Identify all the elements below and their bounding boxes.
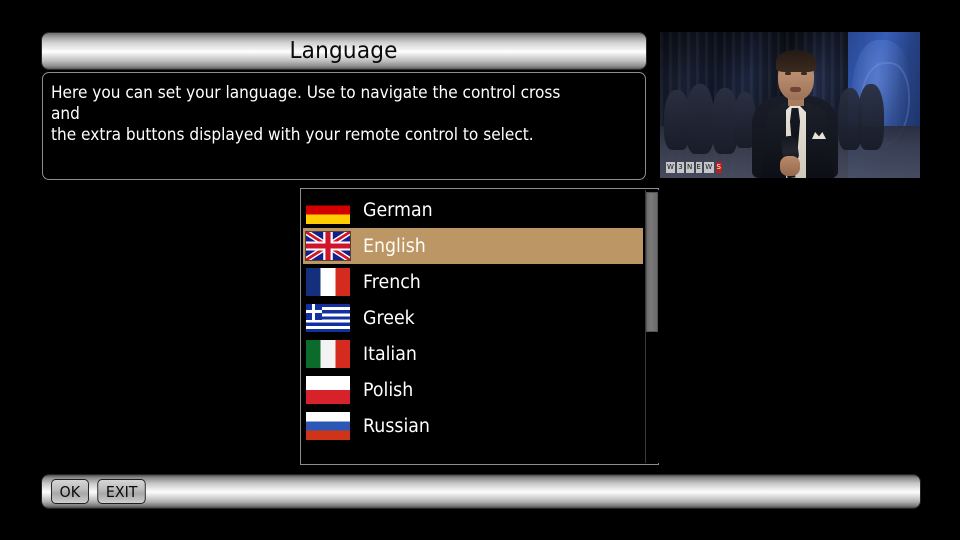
ok-button[interactable]: OK [51, 479, 89, 504]
language-label: English [363, 236, 426, 257]
language-list-item-german[interactable]: German [303, 192, 643, 228]
footer-button-bar: OK EXIT [42, 475, 920, 508]
language-list-item-french[interactable]: French [303, 264, 643, 300]
language-label: Italian [363, 344, 417, 365]
page-title-bar: Language [42, 33, 646, 69]
video-subject-eye [785, 72, 791, 75]
video-subject-hair [776, 50, 816, 72]
language-list-item-italian[interactable]: Italian [303, 336, 643, 372]
logo-part: W [704, 162, 713, 173]
gr-flag-icon [306, 304, 350, 332]
language-label: French [363, 272, 421, 293]
union-jack-svg [306, 232, 350, 260]
logo-part: N [686, 162, 694, 173]
language-label: German [363, 200, 433, 221]
logo-part: E [696, 162, 703, 173]
logo-part: W [666, 162, 675, 173]
logo-part: 3 [677, 162, 684, 173]
language-list-item-polish[interactable]: Polish [303, 372, 643, 408]
logo-part: S [716, 162, 723, 173]
it-flag-icon [306, 340, 350, 368]
language-list: German English French [303, 192, 643, 444]
video-crowd-figure [686, 84, 714, 154]
help-text: Here you can set your language. Use to n… [51, 82, 594, 145]
greek-flag-cross-horizontal [306, 310, 322, 313]
video-subject-hand [780, 156, 800, 176]
news-channel-logo: W 3 N E W S [666, 161, 744, 173]
help-text-box: Here you can set your language. Use to n… [42, 72, 646, 180]
pl-flag-icon [306, 376, 350, 404]
language-list-item-russian[interactable]: Russian [303, 408, 643, 444]
de-flag-icon [306, 196, 350, 224]
tv-settings-screen: Language Here you can set your language.… [0, 0, 960, 540]
exit-button[interactable]: EXIT [97, 479, 146, 504]
language-list-panel[interactable]: German English French [300, 188, 659, 465]
gb-flag-icon [306, 232, 350, 260]
page-title: Language [290, 38, 398, 64]
video-subject-eye [801, 72, 807, 75]
language-list-item-english[interactable]: English [303, 228, 643, 264]
language-label: Greek [363, 308, 415, 329]
fr-flag-icon [306, 268, 350, 296]
language-label: Russian [363, 416, 430, 437]
language-list-item-greek[interactable]: Greek [303, 300, 643, 336]
vertical-scrollbar-thumb[interactable] [646, 192, 658, 332]
video-subject-mouth [790, 87, 801, 92]
video-crowd-figure [858, 84, 884, 150]
live-tv-preview[interactable]: W 3 N E W S [660, 32, 920, 178]
language-label: Polish [363, 380, 413, 401]
ru-flag-icon [306, 412, 350, 440]
